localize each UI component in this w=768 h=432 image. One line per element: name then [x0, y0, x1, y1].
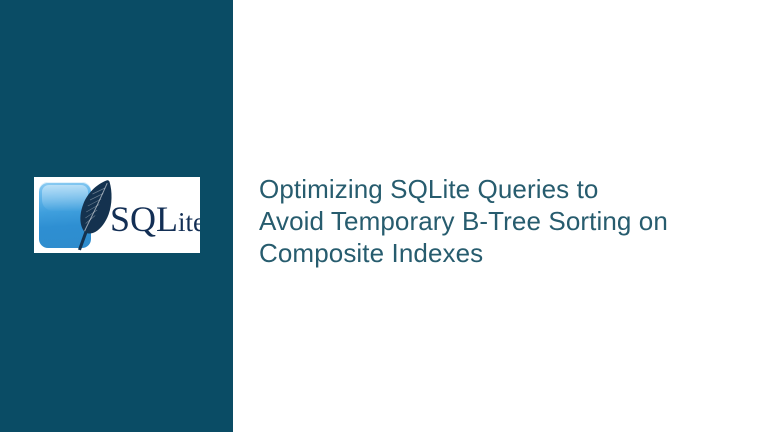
- sqlite-wordmark: SQLite: [110, 199, 200, 242]
- page-title: Optimizing SQLite Queries to Avoid Tempo…: [259, 173, 751, 269]
- sqlite-wordmark-main: SQL: [110, 199, 178, 239]
- page-title-line-1: Optimizing SQLite Queries to: [259, 173, 751, 205]
- page-title-line-3: Composite Indexes: [259, 237, 751, 269]
- page-title-line-2: Avoid Temporary B-Tree Sorting on: [259, 205, 751, 237]
- sqlite-wordmark-suffix: ite: [178, 207, 200, 237]
- sqlite-logo-inner: SQLite: [34, 177, 200, 253]
- sqlite-logo: SQLite: [34, 177, 200, 253]
- title-slide: SQLite Optimizing SQLite Queries to Avoi…: [0, 0, 768, 432]
